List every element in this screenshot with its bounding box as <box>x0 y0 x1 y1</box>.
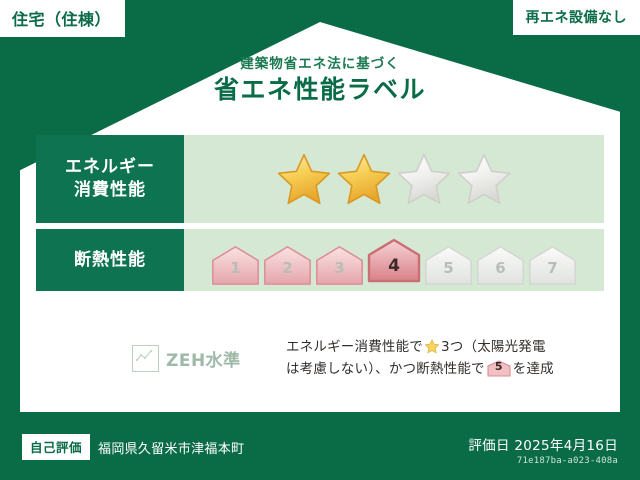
energy-performance-value <box>184 135 604 223</box>
desc-star-count: 3つ（太陽光発電 <box>441 339 546 355</box>
label-footer: 自己評価 福岡県久留米市津福本町 評価日 2025年4月16日 71e187ba… <box>0 418 640 480</box>
footer-right-group: 評価日 2025年4月16日 71e187ba-a023-408a <box>468 434 618 466</box>
insulation-label-line1: 断熱性能 <box>74 249 146 272</box>
label-title-block: 建築物省エネ法に基づく 省エネ性能ラベル <box>0 56 640 105</box>
energy-performance-row: エネルギー 消費性能 <box>36 135 604 223</box>
zeh-icon-glyph <box>133 346 155 368</box>
footer-left-group: 自己評価 福岡県久留米市津福本町 <box>22 434 244 460</box>
property-address: 福岡県久留米市津福本町 <box>98 438 244 457</box>
insulation-level-chips: 1234567 <box>211 238 577 283</box>
star-rating <box>276 151 512 207</box>
insulation-chip: 7 <box>528 245 577 283</box>
insulation-chip: 1 <box>211 245 260 283</box>
zeh-badge: ZEH水準 <box>36 345 272 372</box>
insulation-chip: 6 <box>476 245 525 283</box>
insulation-chip: 5 <box>424 245 473 283</box>
star-filled-icon <box>336 151 392 207</box>
insulation-chip-active: 4 <box>367 238 421 283</box>
evaluation-date: 評価日 2025年4月16日 <box>468 434 618 454</box>
desc-part2: は考慮しない）、かつ断熱性能で <box>286 361 485 377</box>
chip-level-number: 3 <box>334 259 344 283</box>
energy-label-root: 住宅（住棟） 再エネ設備なし 建築物省エネ法に基づく 省エネ性能ラベル エネルギ… <box>0 0 640 480</box>
chip-level-number: 7 <box>547 259 557 283</box>
chip-level-number: 2 <box>282 259 292 283</box>
title-subtitle: 建築物省エネ法に基づく <box>0 56 640 72</box>
inline-chip-number: 5 <box>487 360 511 377</box>
zeh-standard-icon <box>132 345 159 372</box>
insulation-performance-label: 断熱性能 <box>36 229 184 291</box>
star-filled-icon <box>276 151 332 207</box>
desc-part1: エネルギー消費性能で <box>286 339 423 355</box>
zeh-label: ZEH水準 <box>166 346 241 371</box>
chip-level-number: 1 <box>230 259 240 283</box>
insulation-chip: 2 <box>263 245 312 283</box>
building-type-badge: 住宅（住棟） <box>0 0 125 37</box>
insulation-chip: 3 <box>315 245 364 283</box>
chip-level-number: 6 <box>495 259 505 283</box>
insulation-performance-row: 断熱性能 1234567 <box>36 229 604 291</box>
chip-level-number: 5 <box>443 259 453 283</box>
energy-label-line2: 消費性能 <box>74 179 146 202</box>
evaluation-type-badge: 自己評価 <box>22 434 90 460</box>
document-id: 71e187ba-a023-408a <box>468 456 618 466</box>
star-empty-icon <box>396 151 452 207</box>
zeh-section: ZEH水準 エネルギー消費性能で3つ（太陽光発電 は考慮しない）、かつ断熱性能で… <box>36 336 604 381</box>
renewable-energy-badge: 再エネ設備なし <box>513 0 640 35</box>
desc-part3: を達成 <box>513 361 554 377</box>
energy-performance-label: エネルギー 消費性能 <box>36 135 184 223</box>
inline-star-icon <box>424 338 440 354</box>
metric-rows: エネルギー 消費性能 断熱性能 1234567 <box>36 135 604 297</box>
zeh-description: エネルギー消費性能で3つ（太陽光発電 は考慮しない）、かつ断熱性能で5を達成 <box>272 336 604 381</box>
insulation-performance-value: 1234567 <box>184 229 604 291</box>
chip-level-number: 4 <box>388 256 400 283</box>
energy-label-line1: エネルギー <box>65 156 155 179</box>
title-main: 省エネ性能ラベル <box>0 76 640 105</box>
inline-insulation-chip: 5 <box>487 360 511 377</box>
star-empty-icon <box>456 151 512 207</box>
